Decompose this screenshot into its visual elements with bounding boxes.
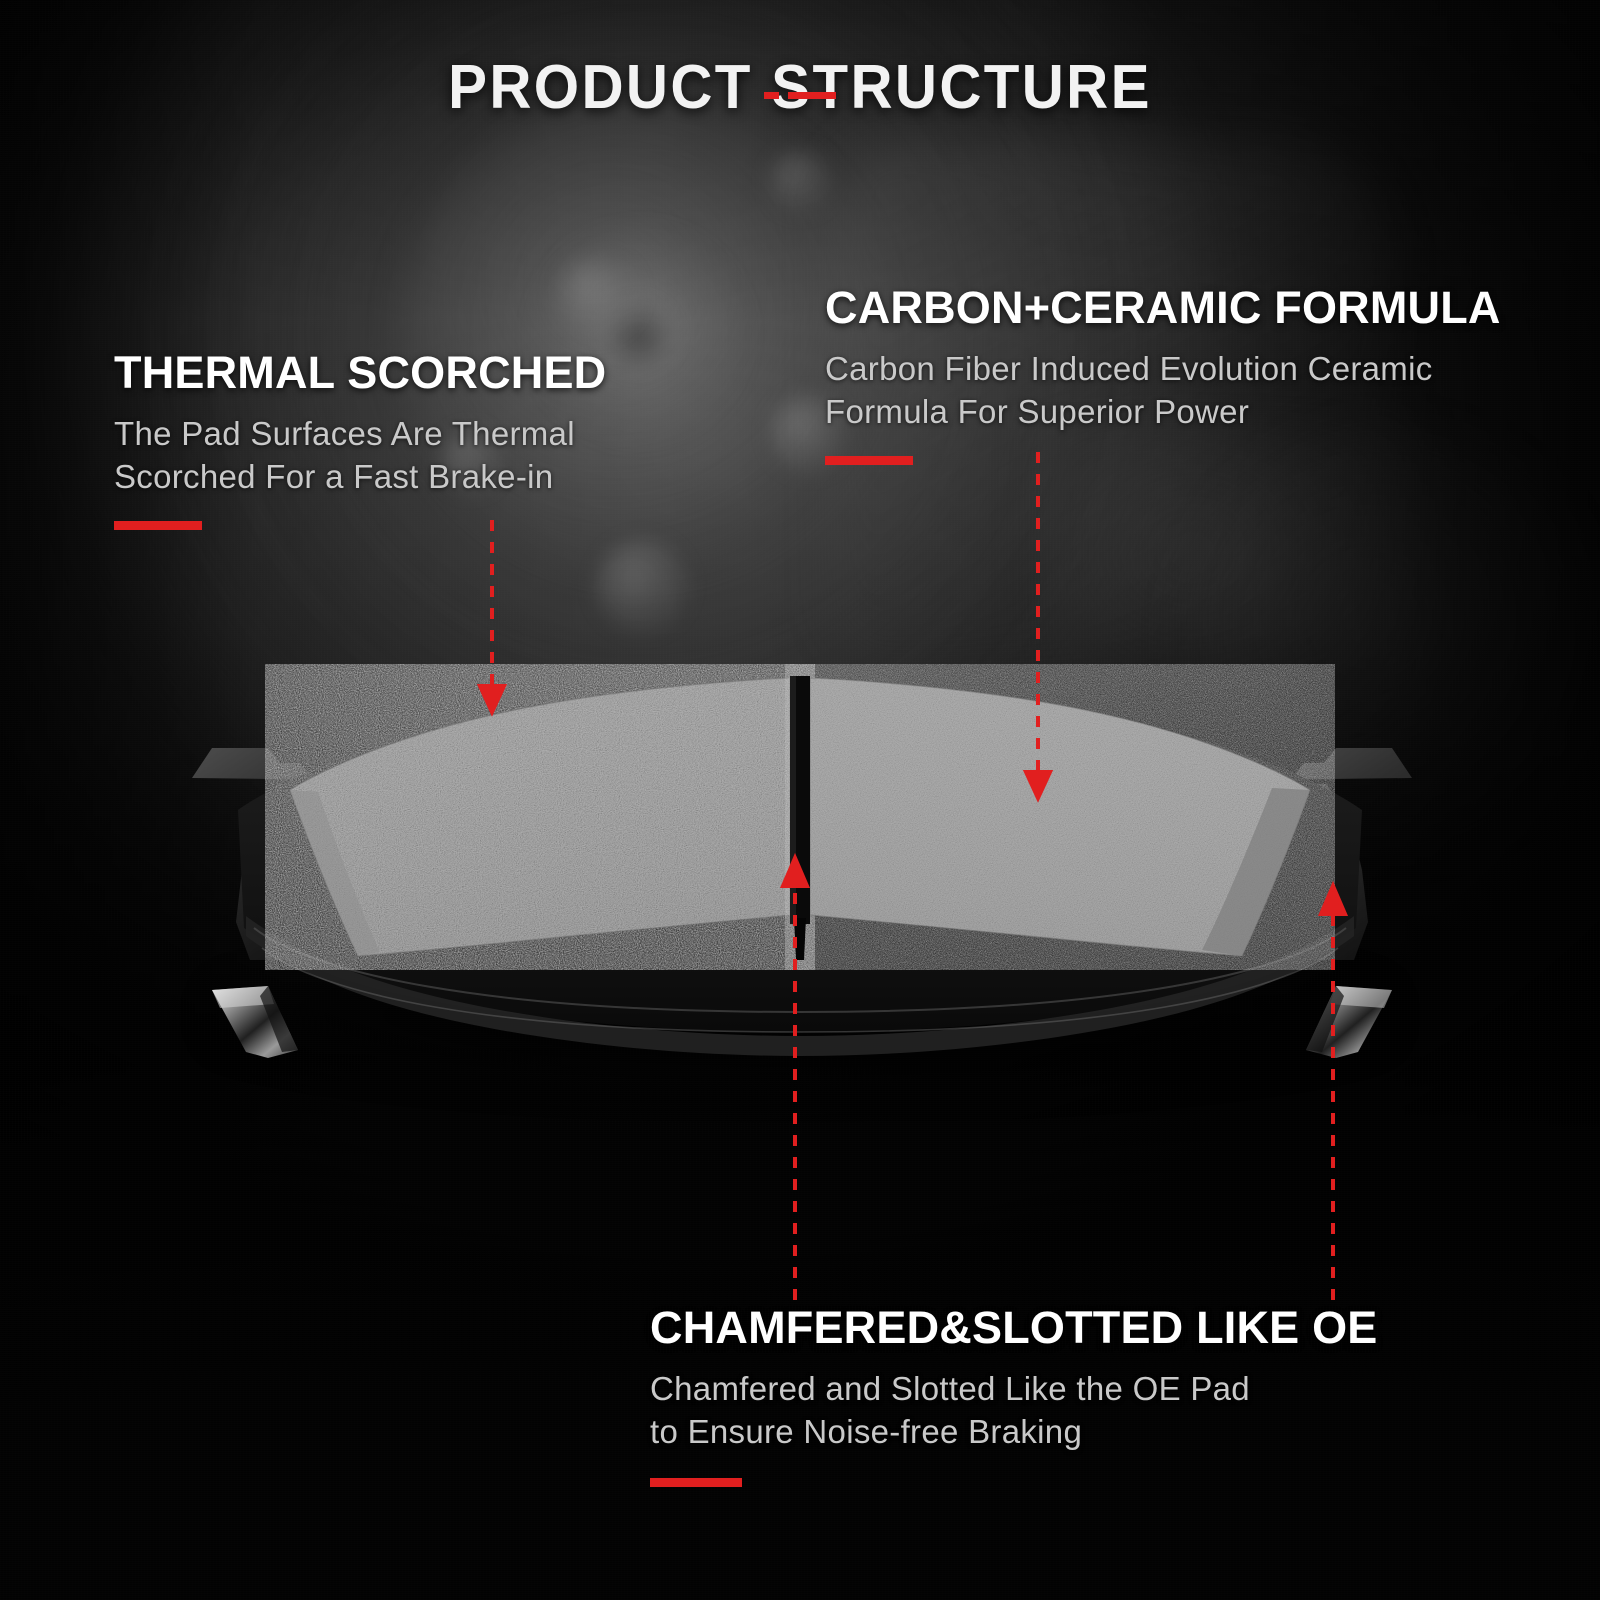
feature-heading-chamfer: CHAMFERED&SLOTTED LIKE OE <box>650 1305 1378 1352</box>
feature-heading-carbon: CARBON+CERAMIC FORMULA <box>825 285 1501 332</box>
page-title: PRODUCT STRUCTURE <box>48 52 1552 123</box>
friction-material-right <box>810 678 1310 956</box>
feature-heading-thermal: THERMAL SCORCHED <box>114 350 606 397</box>
feature-body-chamfer-line2: to Ensure Noise-free Braking <box>650 1411 1378 1454</box>
feature-accent-bar-carbon <box>825 456 913 465</box>
feature-accent-bar-chamfer <box>650 1478 742 1487</box>
feature-block-chamfered-slotted: CHAMFERED&SLOTTED LIKE OE Chamfered and … <box>650 1305 1378 1487</box>
brake-pad-svg <box>150 660 1450 1120</box>
feature-body-thermal-line2: Scorched For a Fast Brake-in <box>114 456 606 499</box>
feature-body-carbon-line2: Formula For Superior Power <box>825 391 1501 434</box>
accent-square <box>764 92 779 99</box>
feature-body-carbon-line1: Carbon Fiber Induced Evolution Ceramic <box>825 348 1501 391</box>
brake-pad-product-image <box>150 660 1450 1120</box>
center-slot <box>790 676 810 960</box>
feature-block-thermal-scorched: THERMAL SCORCHED The Pad Surfaces Are Th… <box>114 350 606 530</box>
feature-accent-bar-thermal <box>114 521 202 530</box>
wear-indicator-clip-right <box>1306 986 1392 1058</box>
friction-material-left <box>290 678 790 956</box>
accent-bar <box>788 92 836 99</box>
feature-block-carbon-ceramic: CARBON+CERAMIC FORMULA Carbon Fiber Indu… <box>825 285 1501 465</box>
infographic-canvas: PRODUCT STRUCTURE <box>0 0 1600 1600</box>
wear-indicator-clip-left <box>212 986 298 1058</box>
feature-body-chamfer-line1: Chamfered and Slotted Like the OE Pad <box>650 1368 1378 1411</box>
title-accent-rule <box>0 92 1600 99</box>
feature-body-thermal-line1: The Pad Surfaces Are Thermal <box>114 413 606 456</box>
page-title-block: PRODUCT STRUCTURE <box>0 52 1600 123</box>
